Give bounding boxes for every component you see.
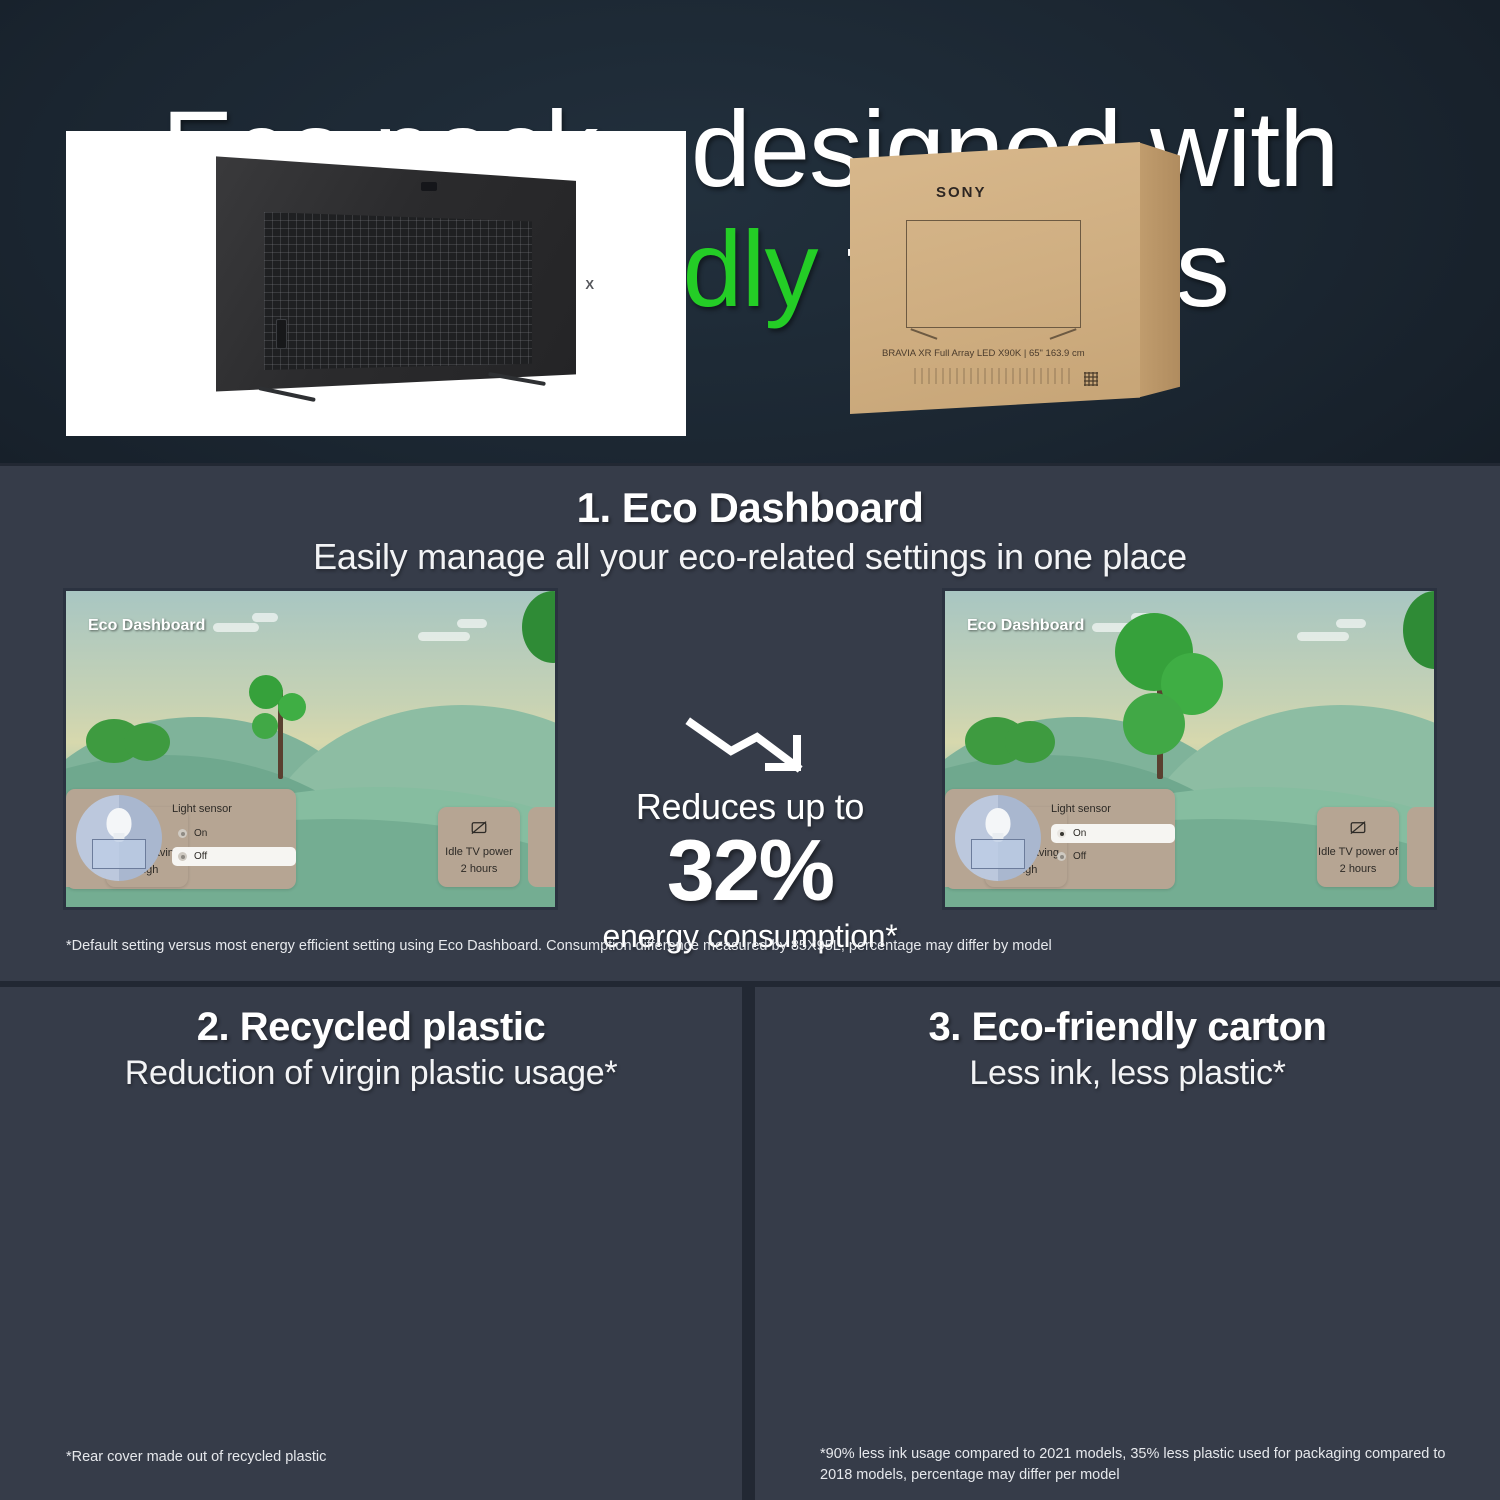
light-sensor-title: Light sensor xyxy=(172,803,290,815)
scenery-cloud xyxy=(1336,619,1366,628)
section3-title: 3. Eco-friendly carton xyxy=(755,987,1500,1050)
carton-feature-icons xyxy=(914,368,1074,384)
section2-title: 2. Recycled plastic xyxy=(0,987,742,1050)
tree-foliage xyxy=(278,693,306,721)
scenery-cloud xyxy=(418,632,470,641)
screen-off-icon xyxy=(470,820,488,839)
light-sensor-option-on[interactable]: On xyxy=(172,824,290,843)
section2-footnote: *Rear cover made out of recycled plastic xyxy=(66,1447,686,1468)
tv-stand-leg xyxy=(258,386,316,402)
light-sensor-option-off[interactable]: Off xyxy=(172,847,296,866)
scenery-bush xyxy=(124,723,170,761)
screen-off-icon xyxy=(1349,820,1367,839)
section-eco-carton: 3. Eco-friendly carton Less ink, less pl… xyxy=(755,987,1500,1500)
light-bulb-icon xyxy=(76,795,162,881)
carton-spec-line: BRAVIA XR Full Array LED X90K | 65" 163.… xyxy=(882,348,1132,359)
scenery-cloud xyxy=(252,613,278,622)
tv-rear-grid-texture xyxy=(264,212,532,370)
radio-icon xyxy=(1057,829,1066,838)
section-eco-dashboard: 1. Eco Dashboard Easily manage all your … xyxy=(0,466,1500,981)
light-sensor-option-off[interactable]: Off xyxy=(1051,847,1169,866)
tv-rear-logo-plate xyxy=(421,182,437,191)
eco-pack-infographic: Eco pack - designed with eco-friendly fe… xyxy=(0,0,1500,1500)
scenery-cloud xyxy=(457,619,487,628)
radio-icon xyxy=(178,852,187,861)
card-partial-right xyxy=(528,807,558,887)
tv-right-dashboard-label: Eco Dashboard xyxy=(967,617,1084,635)
carton-image: SONY BRAVIA XR Full Array LED X90K | 65"… xyxy=(820,128,1440,438)
scenery-cloud xyxy=(1297,632,1349,641)
tv-left-dashboard-label: Eco Dashboard xyxy=(88,617,205,635)
card-partial-right xyxy=(1407,807,1437,887)
sony-logo: SONY xyxy=(936,184,987,201)
tv-screen-eco-settings: Eco Dashboard Power saving High xyxy=(942,588,1437,910)
scenery-bush xyxy=(1005,721,1055,763)
stat-top-label: Reduces up to xyxy=(576,786,924,828)
downward-trend-arrow-icon xyxy=(576,708,924,784)
energy-reduction-stat: Reduces up to 32% energy consumption* xyxy=(576,708,924,955)
carton-qr-icon xyxy=(1084,372,1098,386)
tv-screen-default-settings: Eco Dashboard Power saving High xyxy=(63,588,558,910)
tv-right-dashboard-cards: Power saving High Light sensor xyxy=(945,789,1434,899)
light-sensor-option-off-label: Off xyxy=(1073,851,1086,862)
card-idle-tv-power[interactable]: Idle TV power of 2 hours xyxy=(1317,807,1399,887)
section3-subtitle: Less ink, less plastic* xyxy=(755,1054,1500,1093)
section2-subtitle: Reduction of virgin plastic usage* xyxy=(0,1054,742,1093)
stat-value: 32% xyxy=(576,828,924,916)
tv-rear-xr-mark: X xyxy=(585,277,594,292)
section-divider xyxy=(742,987,755,1500)
tree-foliage xyxy=(1123,693,1185,755)
card-idle-tv-power-value: 2 hours xyxy=(461,863,498,875)
light-sensor-option-on[interactable]: On xyxy=(1051,824,1175,843)
tv-left-dashboard-cards: Power saving High Light sensor xyxy=(66,789,555,899)
light-sensor-option-on-label: On xyxy=(194,828,207,839)
tree-foliage xyxy=(252,713,278,739)
bulb-screen-panel xyxy=(92,839,146,869)
light-bulb-icon xyxy=(955,795,1041,881)
card-idle-tv-power-label: Idle TV power of xyxy=(1318,846,1398,858)
section1-footnote: *Default setting versus most energy effi… xyxy=(66,936,1446,957)
radio-icon xyxy=(1057,852,1066,861)
card-idle-tv-power[interactable]: Idle TV power 2 hours xyxy=(438,807,520,887)
light-sensor-options: Light sensor On Off xyxy=(172,803,290,870)
tv-comparison-row: Eco Dashboard Power saving High xyxy=(0,588,1500,918)
section1-subtitle: Easily manage all your eco-related setti… xyxy=(0,536,1500,578)
section3-footnote: *90% less ink usage compared to 2021 mod… xyxy=(820,1444,1460,1486)
carton-tv-outline xyxy=(906,220,1081,328)
light-sensor-options: Light sensor On Off xyxy=(1051,803,1169,870)
carton-front-panel: SONY BRAVIA XR Full Array LED X90K | 65"… xyxy=(850,142,1140,414)
carton-side-panel xyxy=(1138,142,1180,414)
bulb-screen-panel xyxy=(971,839,1025,869)
carton-tv-stand-outline xyxy=(906,328,1081,346)
radio-icon xyxy=(178,829,187,838)
light-sensor-option-on-label: On xyxy=(1073,828,1086,839)
card-idle-tv-power-label: Idle TV power xyxy=(445,846,513,858)
scenery-cloud xyxy=(213,623,259,632)
tv-rear-photo: X xyxy=(66,131,686,436)
section1-title: 1. Eco Dashboard xyxy=(0,466,1500,532)
light-sensor-title: Light sensor xyxy=(1051,803,1169,815)
section-recycled-plastic: 2. Recycled plastic Reduction of virgin … xyxy=(0,987,742,1500)
tv-rear-render: X xyxy=(216,149,616,429)
light-sensor-option-off-label: Off xyxy=(194,851,207,862)
tv-rear-port xyxy=(276,319,287,349)
card-idle-tv-power-value: 2 hours xyxy=(1340,863,1377,875)
